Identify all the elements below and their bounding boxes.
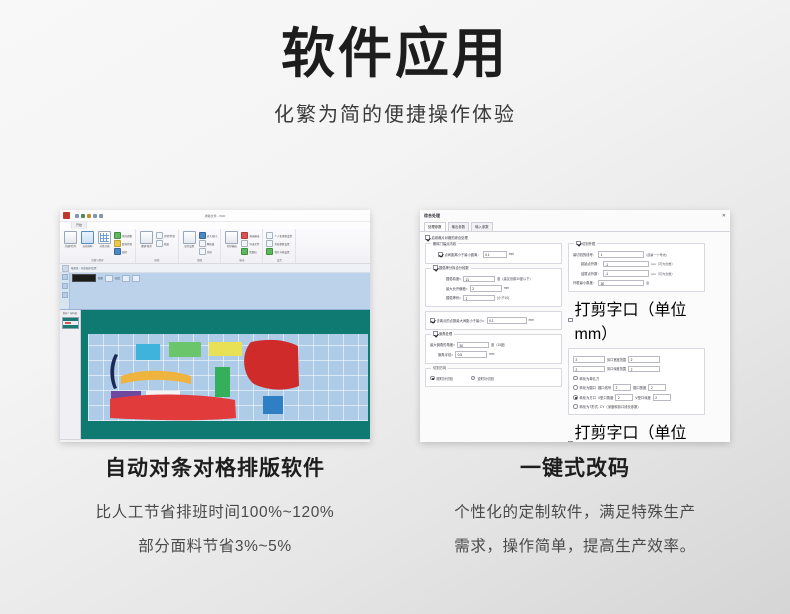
corner-radius-unit: mm bbox=[489, 352, 494, 356]
ribbon-group-edit: 撤销/恢复 剪切/复制 粘贴 bbox=[136, 229, 179, 263]
group-arc-legend-label: 圆弧等分拟合分段数 bbox=[439, 265, 469, 270]
direction-option-cw[interactable]: 顺时针切割 bbox=[430, 376, 453, 381]
marker-width-input[interactable] bbox=[105, 275, 113, 282]
ribbon-small-item[interactable]: 套排复制 bbox=[114, 240, 132, 247]
workspace: 纸样 / 布料层 bbox=[60, 310, 370, 439]
ribbon-group-settings: 个人化参数设置 系统参数设置 裁片对格设置 bbox=[263, 229, 296, 263]
piece-yellow-rect bbox=[209, 342, 242, 356]
new-open-icon bbox=[64, 231, 77, 244]
cad-ribbon: 新建/打开 自动排料 对条对格 bbox=[60, 229, 370, 264]
personal-params-icon bbox=[266, 232, 273, 239]
caption-left-line1: 比人工节省排班时间100%~120% bbox=[45, 498, 385, 528]
notch1-round-field1-label: 圆口线号 bbox=[598, 385, 611, 390]
left-panel: 排版文件 - PAD 开始 新建/打开 bbox=[60, 210, 370, 442]
notch1-enable-label: 打剪字口（单位mm） bbox=[575, 296, 706, 344]
cutframe-line-input[interactable]: 1 bbox=[598, 251, 644, 258]
group-direction-legend-label: 切割方向 bbox=[433, 365, 446, 370]
corner-angle-unit: 度（15度） bbox=[491, 342, 507, 347]
cutframe-minangle-note: 度 bbox=[646, 280, 649, 285]
arc-deviation-label: 最大允许偏差= bbox=[446, 286, 468, 291]
cutframe-end-label: 结尾点外数： bbox=[581, 271, 601, 276]
page-root: 软件应用 化繁为简的便捷操作体验 排版文件 bbox=[0, 0, 790, 614]
group-corner-legend-label: 倒角处理 bbox=[439, 331, 452, 336]
fullscreen-icon bbox=[199, 248, 206, 255]
corner-angle-input[interactable]: 30 bbox=[457, 342, 489, 349]
page-subtitle: 化繁为简的便捷操作体验 bbox=[0, 98, 790, 127]
notch2-enable-label: 打剪字口（单位mm） bbox=[575, 419, 706, 442]
group-notch1: 2 剪口宽度范围 2 2 剪口深度范围 2 bbox=[568, 348, 705, 415]
ribbon-button-print[interactable]: 打印输出 bbox=[224, 231, 239, 248]
fabric-area[interactable] bbox=[88, 334, 368, 421]
auto-nest-icon bbox=[81, 231, 94, 244]
quick-access-toolbar[interactable] bbox=[75, 214, 103, 218]
undo-icon[interactable] bbox=[87, 214, 91, 218]
ribbon-button-label: 显示设置 bbox=[184, 245, 194, 248]
cutframe-start-note: mm（可为负数） bbox=[651, 261, 675, 266]
notch1-single-radio[interactable] bbox=[573, 376, 578, 381]
ribbon-button-undo-redo[interactable]: 撤销/恢复 bbox=[139, 231, 154, 248]
marker-thumbnail[interactable] bbox=[62, 317, 79, 329]
ribbon-small-item[interactable]: 纸样调整 bbox=[114, 232, 132, 239]
ribbon-small-label: 网格线 bbox=[207, 242, 215, 246]
piece-green-tall bbox=[215, 367, 230, 397]
merge-checkbox[interactable] bbox=[430, 318, 435, 323]
piece-list-header: 纸样 / 布料层 bbox=[63, 311, 78, 315]
merge-label: 去离点的点数最大间距小于最小= bbox=[437, 318, 485, 323]
ribbon-group-label: 设置 bbox=[266, 258, 292, 263]
ribbon-button-label: 新建/打开 bbox=[65, 245, 76, 248]
piece-green-rect bbox=[169, 342, 201, 357]
print-output-icon bbox=[225, 231, 238, 244]
ribbon-button-label: 撤销/恢复 bbox=[141, 245, 152, 248]
property-icon bbox=[62, 265, 69, 272]
nesting-canvas[interactable] bbox=[81, 310, 370, 439]
notch1-vee-radio[interactable] bbox=[573, 395, 578, 400]
dialog-titlebar: 综合处理 ✕ bbox=[420, 210, 730, 222]
ribbon-group-label: 编辑 bbox=[139, 258, 175, 263]
caption-right-line1: 个性化的定制软件，满足特殊生产 bbox=[405, 498, 745, 528]
ribbon-small-label: 全屏 bbox=[207, 250, 212, 254]
group-cutframe-checkbox[interactable] bbox=[576, 241, 581, 246]
zoom-icon bbox=[199, 232, 206, 239]
right-panel: 综合处理 ✕ 处理参数 输出参数 输入参数 启用裁片对格的综合处理 bbox=[420, 210, 730, 442]
print-icon[interactable] bbox=[99, 214, 103, 218]
ribbon-group-label: 排版与纸样 bbox=[63, 258, 132, 263]
merge-input[interactable]: 0.1 bbox=[487, 317, 527, 324]
corner-angle-label: 最大倒角的角度= bbox=[430, 342, 455, 347]
tab-output-params[interactable]: 输出参数 bbox=[448, 222, 470, 231]
settings-dialog: 综合处理 ✕ 处理参数 输出参数 输入参数 启用裁片对格的综合处理 bbox=[420, 210, 730, 442]
notch1-tee-radio[interactable] bbox=[573, 404, 578, 409]
caption-right-title: 一键式改码 bbox=[405, 452, 745, 482]
ribbon-button-label: 打印输出 bbox=[227, 245, 237, 248]
caption-left: 自动对条对格排版软件 比人工节省排班时间100%~120% 部分面料节省3%~5… bbox=[45, 452, 385, 562]
cutframe-start-row: 起始点外数： -1 mm（可为负数） bbox=[573, 261, 700, 268]
ribbon-small-label: 绘图仪 bbox=[249, 250, 257, 254]
cutframe-minangle-row: 外框最小角度： 30 度 bbox=[573, 280, 700, 287]
arc-deviation-unit: mm bbox=[504, 286, 509, 290]
smooth-distance-unit: mm bbox=[509, 252, 514, 256]
dialog-title: 综合处理 bbox=[424, 213, 440, 219]
direction-options: 顺时针切割 逆时针切割 bbox=[430, 376, 557, 381]
ribbon-small-label: 旋转 bbox=[122, 250, 127, 254]
save-icon[interactable] bbox=[75, 214, 79, 218]
ribbon-group-label: 视图 bbox=[182, 258, 218, 263]
system-params-icon bbox=[266, 240, 273, 247]
caption-left-line2: 部分面料节省3%~5% bbox=[45, 532, 385, 562]
copy-nest-icon bbox=[114, 240, 121, 247]
notch1-vee-field2-label: V型口深度 bbox=[635, 395, 650, 400]
direction-cw-label: 顺时针切割 bbox=[437, 376, 453, 381]
ribbon-group-output: 打印输出 裁床输出 导出文件 bbox=[221, 229, 263, 263]
ribbon-small-label: 套排复制 bbox=[122, 242, 132, 246]
notch1-single-label: 转化为单孔刀 bbox=[580, 376, 600, 381]
document-title: 排版文件 - PAD bbox=[205, 214, 226, 218]
group-arc-legend: 圆弧等分拟合分段数 bbox=[431, 265, 471, 270]
cutframe-line-row: 最切割的线号： 1 (选第一个号线) bbox=[573, 251, 700, 258]
master-enable-label: 启用裁片对格的综合处理 bbox=[432, 235, 468, 240]
cad-application: 排版文件 - PAD 开始 新建/打开 bbox=[60, 210, 370, 442]
arc-segments-row: 圆弧等份= 2 (小于10) bbox=[430, 295, 557, 302]
piece-navy-arc bbox=[110, 354, 118, 389]
piece-cyan-rect bbox=[136, 344, 160, 360]
dialog-body: 启用裁片对格的综合处理 删除门幅点内线 bbox=[420, 232, 730, 442]
direction-cw-radio[interactable] bbox=[430, 376, 435, 381]
display-settings-icon bbox=[183, 231, 196, 244]
group-arc-checkbox[interactable] bbox=[433, 265, 438, 270]
notch1-depth-max-input[interactable]: 2 bbox=[628, 366, 660, 373]
piece-red-back bbox=[244, 340, 299, 390]
ribbon-small-item[interactable]: 系统参数设置 bbox=[266, 240, 292, 247]
notch1-round-radio[interactable] bbox=[573, 385, 578, 390]
corner-radius-row: 倒角半径= 0.5 mm bbox=[430, 351, 557, 358]
ribbon-small-label: 裁床输出 bbox=[249, 234, 259, 238]
arc-precision-label: 圆弧精度= bbox=[446, 276, 461, 281]
ribbon-button-label: 自动排料 bbox=[82, 245, 92, 248]
gutter-icon[interactable] bbox=[62, 292, 68, 298]
ribbon-tab-home[interactable]: 开始 bbox=[71, 221, 87, 229]
arc-segments-unit: (小于10) bbox=[497, 295, 509, 300]
paste-icon bbox=[156, 240, 163, 247]
piece-red-front bbox=[110, 395, 236, 421]
piece-blue-square bbox=[263, 396, 283, 414]
caption-right: 一键式改码 个性化的定制软件，满足特殊生产 需求，操作简单，提高生产效率。 bbox=[405, 452, 745, 562]
arc-deviation-row: 最大允许偏差= 2 mm bbox=[430, 285, 557, 292]
notch1-round-field2-input[interactable]: 2 bbox=[648, 384, 666, 391]
group-smooth-legend-label: 删除门幅点内线 bbox=[433, 241, 456, 246]
cad-ribbon-tabs[interactable]: 开始 bbox=[60, 222, 370, 229]
cutter-output-icon bbox=[241, 232, 248, 239]
notch1-width-range-row: 2 剪口宽度范围 2 bbox=[573, 356, 700, 363]
marker-info-panel: 幅宽 长度 bbox=[60, 273, 370, 310]
ribbon-small-label: 粘贴 bbox=[164, 242, 169, 246]
ribbon-small-item[interactable]: 裁床输出 bbox=[241, 232, 259, 239]
group-cutframe-legend: 切割外框 bbox=[574, 241, 597, 246]
notch1-round-field2-label: 圆口宽度 bbox=[633, 385, 646, 390]
ribbon-small-item[interactable]: 剪切/复制 bbox=[156, 232, 175, 239]
ribbon-button-auto-nest[interactable]: 自动排料 bbox=[80, 231, 95, 248]
cutframe-minangle-input[interactable]: 30 bbox=[598, 280, 644, 287]
status-bar: 排版效率 86.5% 宽150cm 长230cm / 用料 纸样总数 78个 已… bbox=[60, 439, 370, 442]
group-merge: 去离点的点数最大间距小于最小= 0.1 mm bbox=[425, 311, 562, 330]
dialog-column-right: 切割外框 最切割的线号： 1 (选第一个号线) 起始点外数： bbox=[568, 243, 705, 442]
ribbon-small-label: 剪切/复制 bbox=[164, 234, 175, 238]
rotate-icon bbox=[114, 248, 121, 255]
smooth-distance-label: 点间距离小于最小距离： bbox=[445, 252, 481, 257]
notch1-vee-field1-label: V型口角度 bbox=[598, 395, 613, 400]
ribbon-group-view: 显示设置 放大/缩小 网格线 bbox=[179, 229, 222, 263]
ribbon-group-label: 输出 bbox=[224, 258, 259, 263]
group-cutframe: 切割外框 最切割的线号： 1 (选第一个号线) 起始点外数： bbox=[568, 243, 705, 292]
notch1-option-round[interactable]: 转化为圆口 圆口线号 2 圆口宽度 2 bbox=[573, 384, 700, 391]
ribbon-small-item[interactable]: 放大/缩小 bbox=[199, 232, 218, 239]
redo-icon[interactable] bbox=[93, 214, 97, 218]
ribbon-small-label: 纸样调整 bbox=[122, 234, 132, 238]
marker-length-input[interactable] bbox=[122, 275, 130, 282]
smooth-distance-row: 点间距离小于最小距离： 0.1 mm bbox=[430, 251, 557, 258]
notch2-enable-row[interactable]: 打剪字口（单位mm） bbox=[568, 419, 705, 442]
notch1-depth-min-input[interactable]: 2 bbox=[573, 366, 605, 373]
notch1-width-min-input[interactable]: 2 bbox=[573, 356, 605, 363]
ribbon-small-label: 裁片对格设置 bbox=[274, 250, 289, 254]
group-smooth: 删除门幅点内线 点间距离小于最小距离： 0.1 mm bbox=[425, 243, 562, 264]
arc-precision-unit: 度（建议设置30度以下） bbox=[497, 276, 532, 281]
ribbon-small-label: 系统参数设置 bbox=[274, 242, 289, 246]
ribbon-small-item[interactable]: 全屏 bbox=[199, 248, 218, 255]
notch1-vee-field2-input[interactable]: 2 bbox=[653, 394, 671, 401]
plaid-settings-icon bbox=[266, 248, 273, 255]
gridline-icon bbox=[199, 240, 206, 247]
group-cutframe-legend-label: 切割外框 bbox=[582, 241, 595, 246]
tab-process-params[interactable]: 处理参数 bbox=[424, 222, 446, 231]
notch1-option-tee[interactable]: 转化为T形式, CY（深度和剪口线长参数） bbox=[573, 404, 700, 409]
arc-segments-input[interactable]: 2 bbox=[463, 295, 495, 302]
notch1-enable-checkbox[interactable] bbox=[568, 318, 573, 323]
notch1-vee-label: 转化为方口 bbox=[580, 395, 596, 400]
ribbon-button-label: 对条对格 bbox=[99, 245, 109, 248]
caption-left-title: 自动对条对格排版软件 bbox=[45, 452, 385, 482]
notch1-width-range-label: 剪口宽度范围 bbox=[607, 357, 626, 362]
ribbon-small-item[interactable]: 网格线 bbox=[199, 240, 218, 247]
marker-length-label: 长度 bbox=[115, 276, 120, 280]
ribbon-button-match-plaid[interactable]: 对条对格 bbox=[97, 231, 112, 248]
direction-ccw-radio[interactable] bbox=[471, 376, 476, 381]
group-corner-legend: 倒角处理 bbox=[431, 331, 454, 336]
panel-gutter bbox=[60, 273, 70, 309]
cut-copy-icon bbox=[156, 232, 163, 239]
cutframe-line-label: 最切割的线号： bbox=[573, 252, 596, 257]
ribbon-small-item[interactable]: 绘图仪 bbox=[241, 248, 259, 255]
notch1-tee-label: 转化为T形式, CY（深度和剪口线长参数） bbox=[580, 404, 641, 409]
merge-row: 去离点的点数最大间距小于最小= 0.1 mm bbox=[430, 317, 557, 324]
dialog-column-left: 删除门幅点内线 点间距离小于最小距离： 0.1 mm bbox=[425, 243, 562, 442]
notch1-option-vee[interactable]: 转化为方口 V型口角度 2 V型口深度 2 bbox=[573, 394, 700, 401]
smooth-distance-checkbox[interactable] bbox=[438, 252, 443, 257]
direction-ccw-label: 逆时针切割 bbox=[477, 376, 493, 381]
notch1-option-single[interactable]: 转化为单孔刀 bbox=[573, 376, 700, 381]
notch1-depth-range-label: 剪口深度范围 bbox=[607, 366, 626, 371]
arc-deviation-input[interactable]: 2 bbox=[470, 285, 502, 292]
notch2-enable-checkbox[interactable] bbox=[568, 441, 573, 442]
arc-segments-label: 圆弧等份= bbox=[446, 295, 461, 300]
dialog-columns: 删除门幅点内线 点间距离小于最小距离： 0.1 mm bbox=[425, 243, 725, 442]
ribbon-small-label: 个人化参数设置 bbox=[274, 234, 292, 238]
notch1-round-label: 转化为圆口 bbox=[580, 385, 596, 390]
group-arc: 圆弧等分拟合分段数 圆弧精度= 21 度（建议设置30度以下） 最大允许偏差= bbox=[425, 268, 562, 308]
ribbon-button-new-open[interactable]: 新建/打开 bbox=[63, 231, 78, 248]
ribbon-small-item[interactable]: 粘贴 bbox=[156, 240, 175, 247]
corner-radius-label: 倒角半径= bbox=[438, 352, 453, 357]
undo-redo-icon bbox=[140, 231, 153, 244]
group-smooth-legend: 删除门幅点内线 bbox=[431, 241, 458, 246]
ribbon-small-item[interactable]: 旋转 bbox=[114, 248, 132, 255]
group-direction: 切割方向 顺时针切割 bbox=[425, 368, 562, 387]
ribbon-small-label: 放大/缩小 bbox=[207, 234, 218, 238]
group-corner-checkbox[interactable] bbox=[433, 331, 438, 336]
cutframe-end-row: 结尾点外数： -1 mm（可为负数） bbox=[573, 270, 700, 277]
app-logo-icon bbox=[63, 212, 70, 219]
group-corner: 倒角处理 最大倒角的角度= 30 度（15度） 倒角半径= bbox=[425, 334, 562, 364]
cutframe-start-label: 起始点外数： bbox=[581, 261, 601, 266]
fabric-swatch[interactable] bbox=[72, 274, 96, 282]
cutframe-end-input[interactable]: -1 bbox=[603, 270, 649, 277]
arc-precision-row: 圆弧精度= 21 度（建议设置30度以下） bbox=[430, 276, 557, 283]
close-icon[interactable]: ✕ bbox=[722, 214, 726, 219]
cutframe-line-note: (选第一个号线) bbox=[646, 252, 667, 257]
notch1-depth-range-row: 2 剪口深度范围 2 bbox=[573, 366, 700, 373]
cutframe-minangle-label: 外框最小角度： bbox=[573, 280, 596, 285]
merge-unit: mm bbox=[529, 318, 534, 322]
cad-titlebar: 排版文件 - PAD bbox=[60, 210, 370, 222]
ribbon-group-layout: 新建/打开 自动排料 对条对格 bbox=[60, 229, 136, 263]
piece-adjust-icon bbox=[114, 232, 121, 239]
marker-info-body: 幅宽 长度 bbox=[70, 273, 370, 309]
direction-option-ccw[interactable]: 逆时针切割 bbox=[471, 376, 494, 381]
ribbon-button-display-settings[interactable]: 显示设置 bbox=[182, 231, 197, 248]
export-file-icon bbox=[241, 240, 248, 247]
marker-width-label: 幅宽 bbox=[98, 276, 103, 280]
smooth-distance-input[interactable]: 0.1 bbox=[483, 251, 507, 258]
piece-orange-band bbox=[121, 371, 191, 384]
corner-radius-input[interactable]: 0.5 bbox=[455, 351, 487, 358]
cutframe-end-note: mm（可为负数） bbox=[651, 271, 675, 276]
settings-dialog-screenshot: 综合处理 ✕ 处理参数 输出参数 输入参数 启用裁片对格的综合处理 bbox=[420, 210, 730, 442]
ribbon-small-item[interactable]: 导出文件 bbox=[241, 240, 259, 247]
cutframe-start-input[interactable]: -1 bbox=[603, 261, 649, 268]
master-enable-checkbox[interactable] bbox=[425, 235, 430, 240]
gutter-icon[interactable] bbox=[62, 274, 68, 280]
open-icon[interactable] bbox=[81, 214, 85, 218]
nesting-app-screenshot: 排版文件 - PAD 开始 新建/打开 bbox=[60, 210, 370, 442]
status-bar-text: 排版效率 86.5% 宽150cm 长230cm / 用料 纸样总数 78个 已… bbox=[62, 442, 229, 443]
tab-input-params[interactable]: 输入参数 bbox=[471, 222, 493, 231]
piece-list-pane: 纸样 / 布料层 bbox=[60, 310, 81, 439]
group-direction-legend: 切割方向 bbox=[431, 365, 448, 370]
match-plaid-icon bbox=[98, 231, 111, 244]
master-enable-row[interactable]: 启用裁片对格的综合处理 bbox=[425, 235, 725, 240]
ribbon-small-label: 导出文件 bbox=[249, 242, 259, 246]
dialog-tabs[interactable]: 处理参数 输出参数 输入参数 bbox=[420, 222, 730, 232]
gutter-icon[interactable] bbox=[62, 283, 68, 289]
ribbon-small-item[interactable]: 个人化参数设置 bbox=[266, 232, 292, 239]
page-header: 软件应用 化繁为简的便捷操作体验 bbox=[0, 0, 790, 127]
notch1-width-max-input[interactable]: 2 bbox=[628, 356, 660, 363]
page-title: 软件应用 bbox=[0, 24, 790, 84]
property-bar-label: 唛架宽 - 内部选择/设置： bbox=[71, 266, 99, 270]
notch1-vee-field1-input[interactable]: 2 bbox=[615, 394, 633, 401]
arc-precision-input[interactable]: 21 bbox=[463, 276, 495, 283]
property-bar: 唛架宽 - 内部选择/设置： bbox=[60, 264, 370, 273]
caption-right-line2: 需求，操作简单，提高生产效率。 bbox=[405, 532, 745, 562]
marker-extra-input[interactable] bbox=[132, 275, 140, 282]
plotter-icon bbox=[241, 248, 248, 255]
notch1-round-field1-input[interactable]: 2 bbox=[613, 384, 631, 391]
corner-angle-row: 最大倒角的角度= 30 度（15度） bbox=[430, 342, 557, 349]
ribbon-small-item[interactable]: 裁片对格设置 bbox=[266, 248, 292, 255]
notch1-enable-row[interactable]: 打剪字口（单位mm） bbox=[568, 296, 705, 344]
